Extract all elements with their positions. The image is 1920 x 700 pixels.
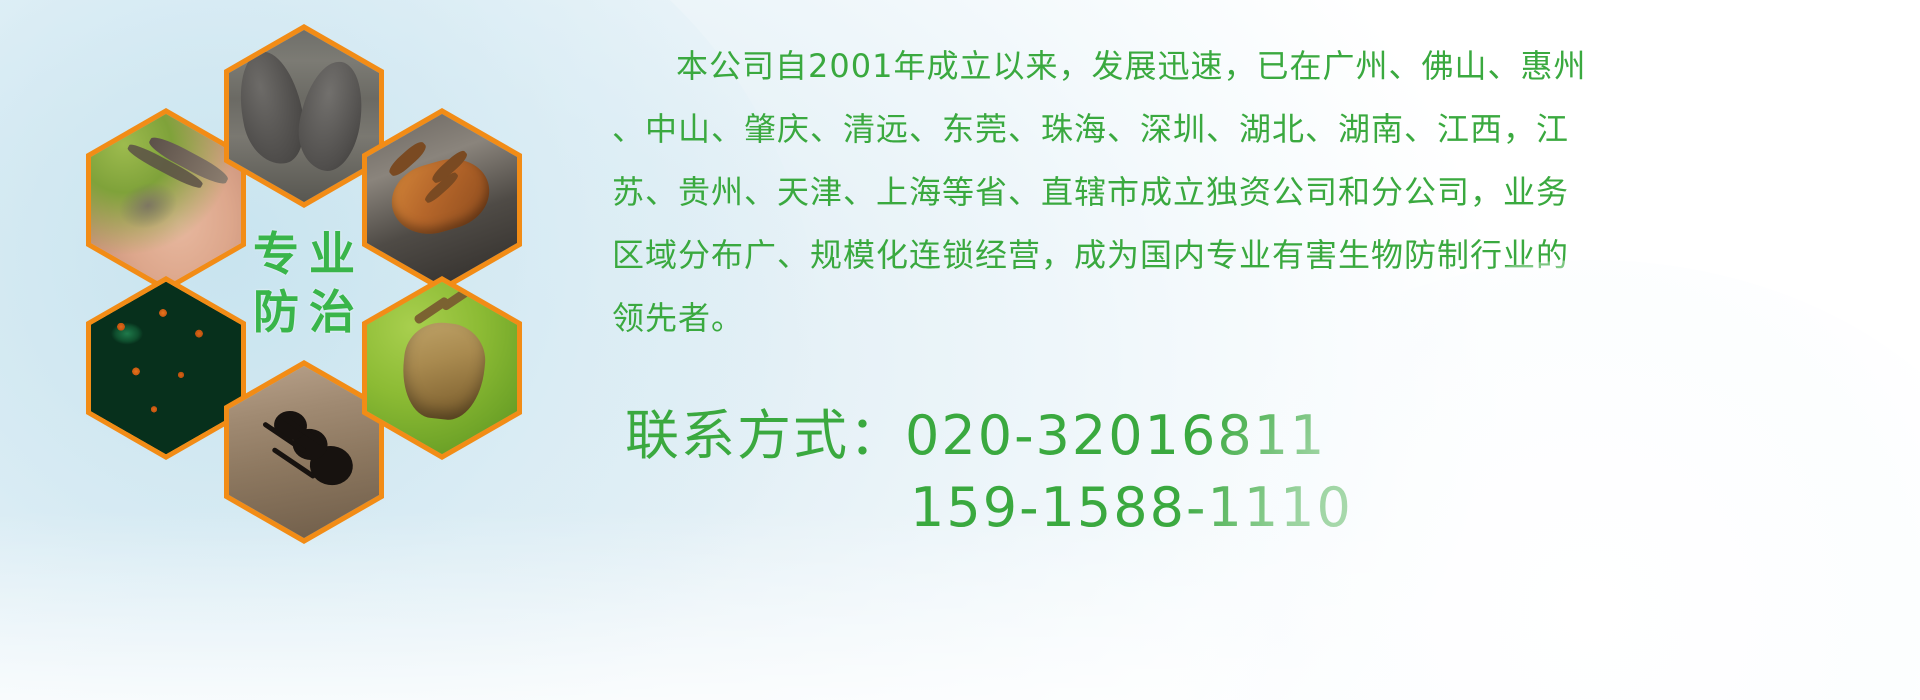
contact-block: 联系方式：020-32016811 159-1588-1110 [625, 400, 1905, 544]
contact-label: 联系方式： [625, 404, 905, 467]
contact-secondary-line: 159-1588-1110 [625, 472, 1905, 544]
hex-cell-ant[interactable] [224, 360, 384, 544]
description-line-3: 苏、贵州、天津、上海等省、直辖市成立独资公司和分公司，业务 [612, 164, 1880, 221]
hex-photo-cockroach [367, 114, 517, 286]
promo-banner: 专业 防治 本公司自2001年成立以来，发展迅速，已在广州、佛山、惠州 、中山、… [0, 0, 1920, 700]
description-line-1: 本公司自2001年成立以来，发展迅速，已在广州、佛山、惠州 [612, 38, 1880, 95]
honeycomb-collage: 专业 防治 [86, 14, 596, 574]
hex-photo-mosquito [91, 114, 241, 286]
hex-cell-flies[interactable] [86, 276, 246, 460]
company-description: 本公司自2001年成立以来，发展迅速，已在广州、佛山、惠州 、中山、肇庆、清远、… [612, 38, 1880, 353]
hex-cell-rats[interactable] [224, 24, 384, 208]
hex-cell-cockroach[interactable] [362, 108, 522, 292]
description-line-5: 领先者。 [612, 290, 1880, 347]
description-line-4: 区域分布广、规模化连锁经营，成为国内专业有害生物防制行业的 [612, 227, 1880, 284]
center-label-line-1: 专业 [243, 229, 365, 281]
contact-primary-line: 联系方式：020-32016811 [625, 400, 1905, 472]
phone-primary[interactable]: 020-32016811 [905, 404, 1326, 467]
description-line-2: 、中山、肇庆、清远、东莞、珠海、深圳、湖北、湖南、江西，江 [612, 101, 1880, 158]
hex-cell-mosquito[interactable] [86, 108, 246, 292]
hex-cell-stink-bug[interactable] [362, 276, 522, 460]
rat-icon [229, 30, 379, 202]
honeycomb-center-label: 专业 防治 [224, 192, 384, 376]
center-label-line-2: 防治 [243, 287, 365, 339]
hex-photo-rats [229, 30, 379, 202]
fly-icon [91, 282, 241, 454]
phone-secondary[interactable]: 159-1588-1110 [910, 476, 1353, 539]
cockroach-icon [367, 114, 517, 286]
hex-photo-flies [91, 282, 241, 454]
hex-photo-stink-bug [367, 282, 517, 454]
mosquito-icon [91, 114, 241, 286]
stink-bug-icon [367, 282, 517, 454]
ant-icon [229, 366, 379, 538]
hex-photo-ant [229, 366, 379, 538]
